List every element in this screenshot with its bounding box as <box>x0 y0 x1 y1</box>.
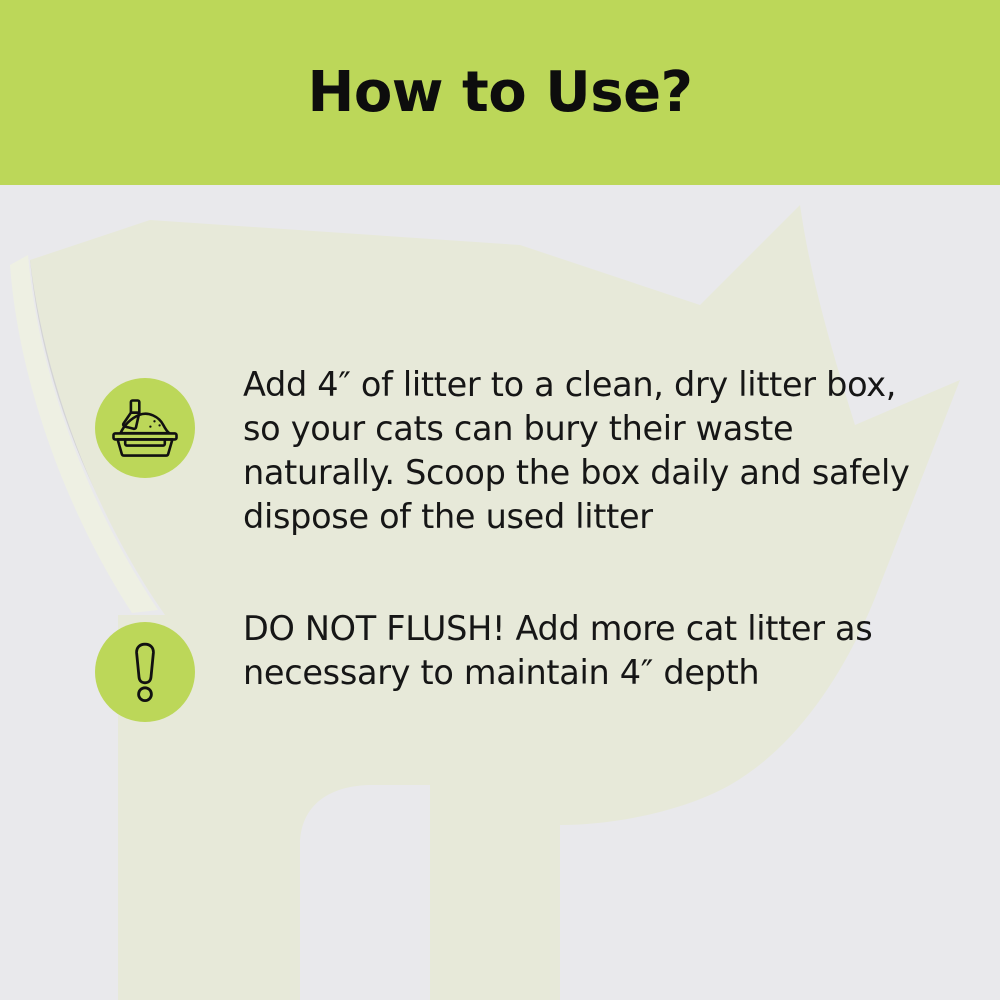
step-item-add-litter: Add 4″ of litter to a clean, dry litter … <box>95 363 933 539</box>
header-band: How to Use? <box>0 0 1000 185</box>
litter-box-icon <box>112 397 178 459</box>
step-item-do-not-flush: DO NOT FLUSH! Add more cat litter as nec… <box>95 607 933 722</box>
how-to-use-infographic: How to Use? <box>0 0 1000 1000</box>
page-title: How to Use? <box>0 0 1000 185</box>
exclamation-mark-icon <box>124 641 166 703</box>
exclamation-mark-icon-badge <box>95 622 195 722</box>
litter-box-icon-badge <box>95 378 195 478</box>
steps-container: Add 4″ of litter to a clean, dry litter … <box>0 185 1000 1000</box>
step-text-do-not-flush: DO NOT FLUSH! Add more cat litter as nec… <box>243 607 933 695</box>
step-text-add-litter: Add 4″ of litter to a clean, dry litter … <box>243 363 933 539</box>
